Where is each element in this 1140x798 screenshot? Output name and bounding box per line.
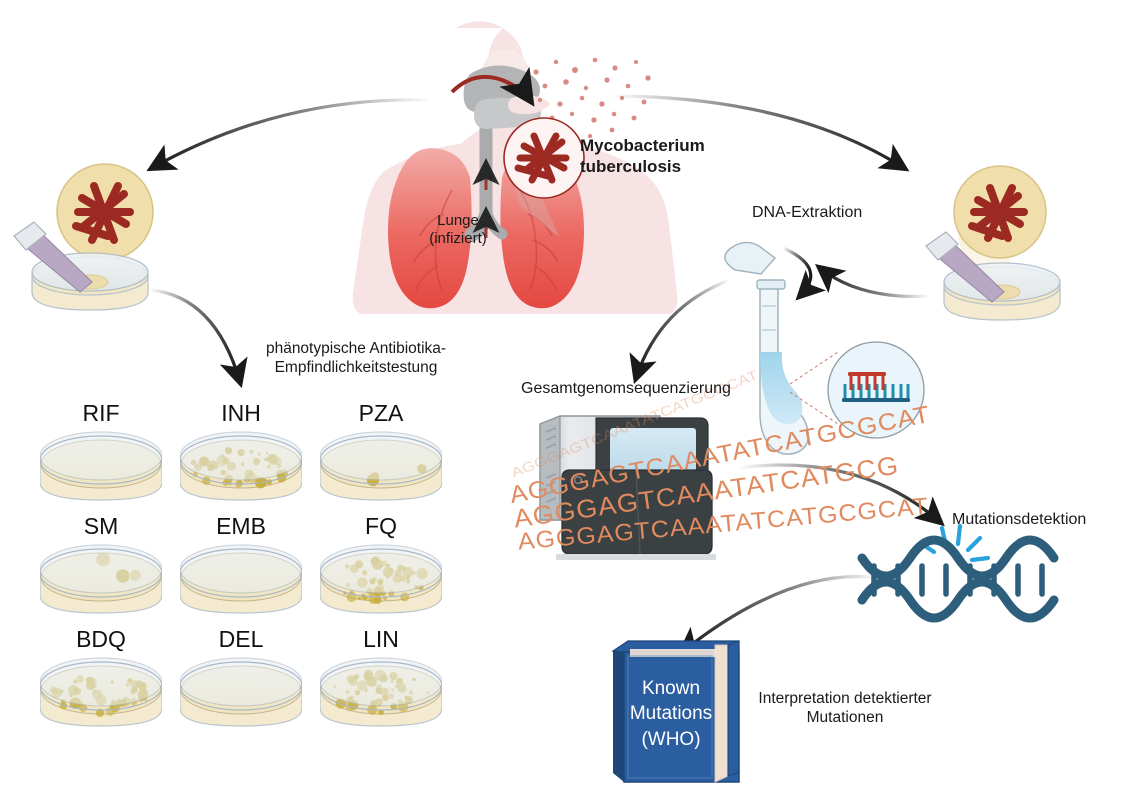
plate-label-rif: RIF: [41, 400, 161, 427]
sequencer-machine-icon: [540, 416, 716, 560]
mycobacterium-magnifier-icon: [504, 118, 584, 198]
arrow-to-left-culture: [152, 100, 430, 168]
colony: [237, 480, 243, 486]
petri-dish-rif: [40, 430, 162, 516]
dna-extraction-label: DNA-Extraktion: [752, 203, 862, 223]
dna-strand-magnifier-icon: [790, 342, 924, 438]
book-title-line-1: Known: [628, 676, 714, 701]
arrow-to-phenotypic-plates: [150, 290, 240, 382]
plate-label-lin: LIN: [321, 626, 441, 653]
plate-label-sm: SM: [41, 513, 161, 540]
petri-dish-pza: [320, 430, 442, 516]
petri-dish-fq: [320, 543, 442, 629]
petri-dish-sm: [40, 543, 162, 629]
phenotypic-test-label: phänotypische Antibiotika- Empfindlichke…: [246, 340, 466, 378]
book-title: Known Mutations (WHO): [628, 676, 714, 752]
petri-dish-inh: [180, 430, 302, 516]
plate-label-fq: FQ: [321, 513, 441, 540]
petri-dish-del: [180, 656, 302, 742]
colony: [400, 593, 409, 602]
arrow-extraction-label: [783, 248, 811, 296]
plate-label-pza: PZA: [321, 400, 441, 427]
dna-helix-rungs: [874, 566, 1042, 594]
mutation-detection-label: Mutationsdetektion: [952, 510, 1086, 530]
plate-label-del: DEL: [181, 626, 301, 653]
plate-label-emb: EMB: [181, 513, 301, 540]
colony: [357, 597, 361, 601]
plate-label-bdq: BDQ: [41, 626, 161, 653]
book-title-line-2: Mutations: [628, 701, 714, 726]
pathogen-label: Mycobacterium tuberculosis: [580, 136, 705, 177]
right-culture-setup: [926, 166, 1060, 320]
plate-label-inh: INH: [181, 400, 301, 427]
dna-double-helix-icon: [862, 540, 1054, 618]
diagram-canvas: AGGGAGTCAAATATCATGCGCAT AGGGAGTCAAATATCA…: [0, 0, 1140, 798]
left-culture-setup: [14, 164, 153, 310]
antibiotic-plate-grid: RIFINHPZASMEMBFQBDQDELLIN: [40, 400, 460, 790]
petri-dish-emb: [180, 543, 302, 629]
eppendorf-tube-icon: [725, 242, 808, 454]
lung-label: Lunge (infiziert): [398, 212, 518, 249]
interpretation-label: Interpretation detektierter Mutationen: [720, 690, 970, 728]
wgs-label: Gesamtgenomsequenzierung: [521, 379, 731, 399]
petri-dish-lin: [320, 656, 442, 742]
petri-dish-bdq: [40, 656, 162, 742]
arrow-to-dna-extraction: [820, 268, 930, 296]
book-title-line-3: (WHO): [628, 727, 714, 752]
arrow-to-mutation-detection: [737, 465, 940, 522]
colony: [368, 593, 379, 604]
